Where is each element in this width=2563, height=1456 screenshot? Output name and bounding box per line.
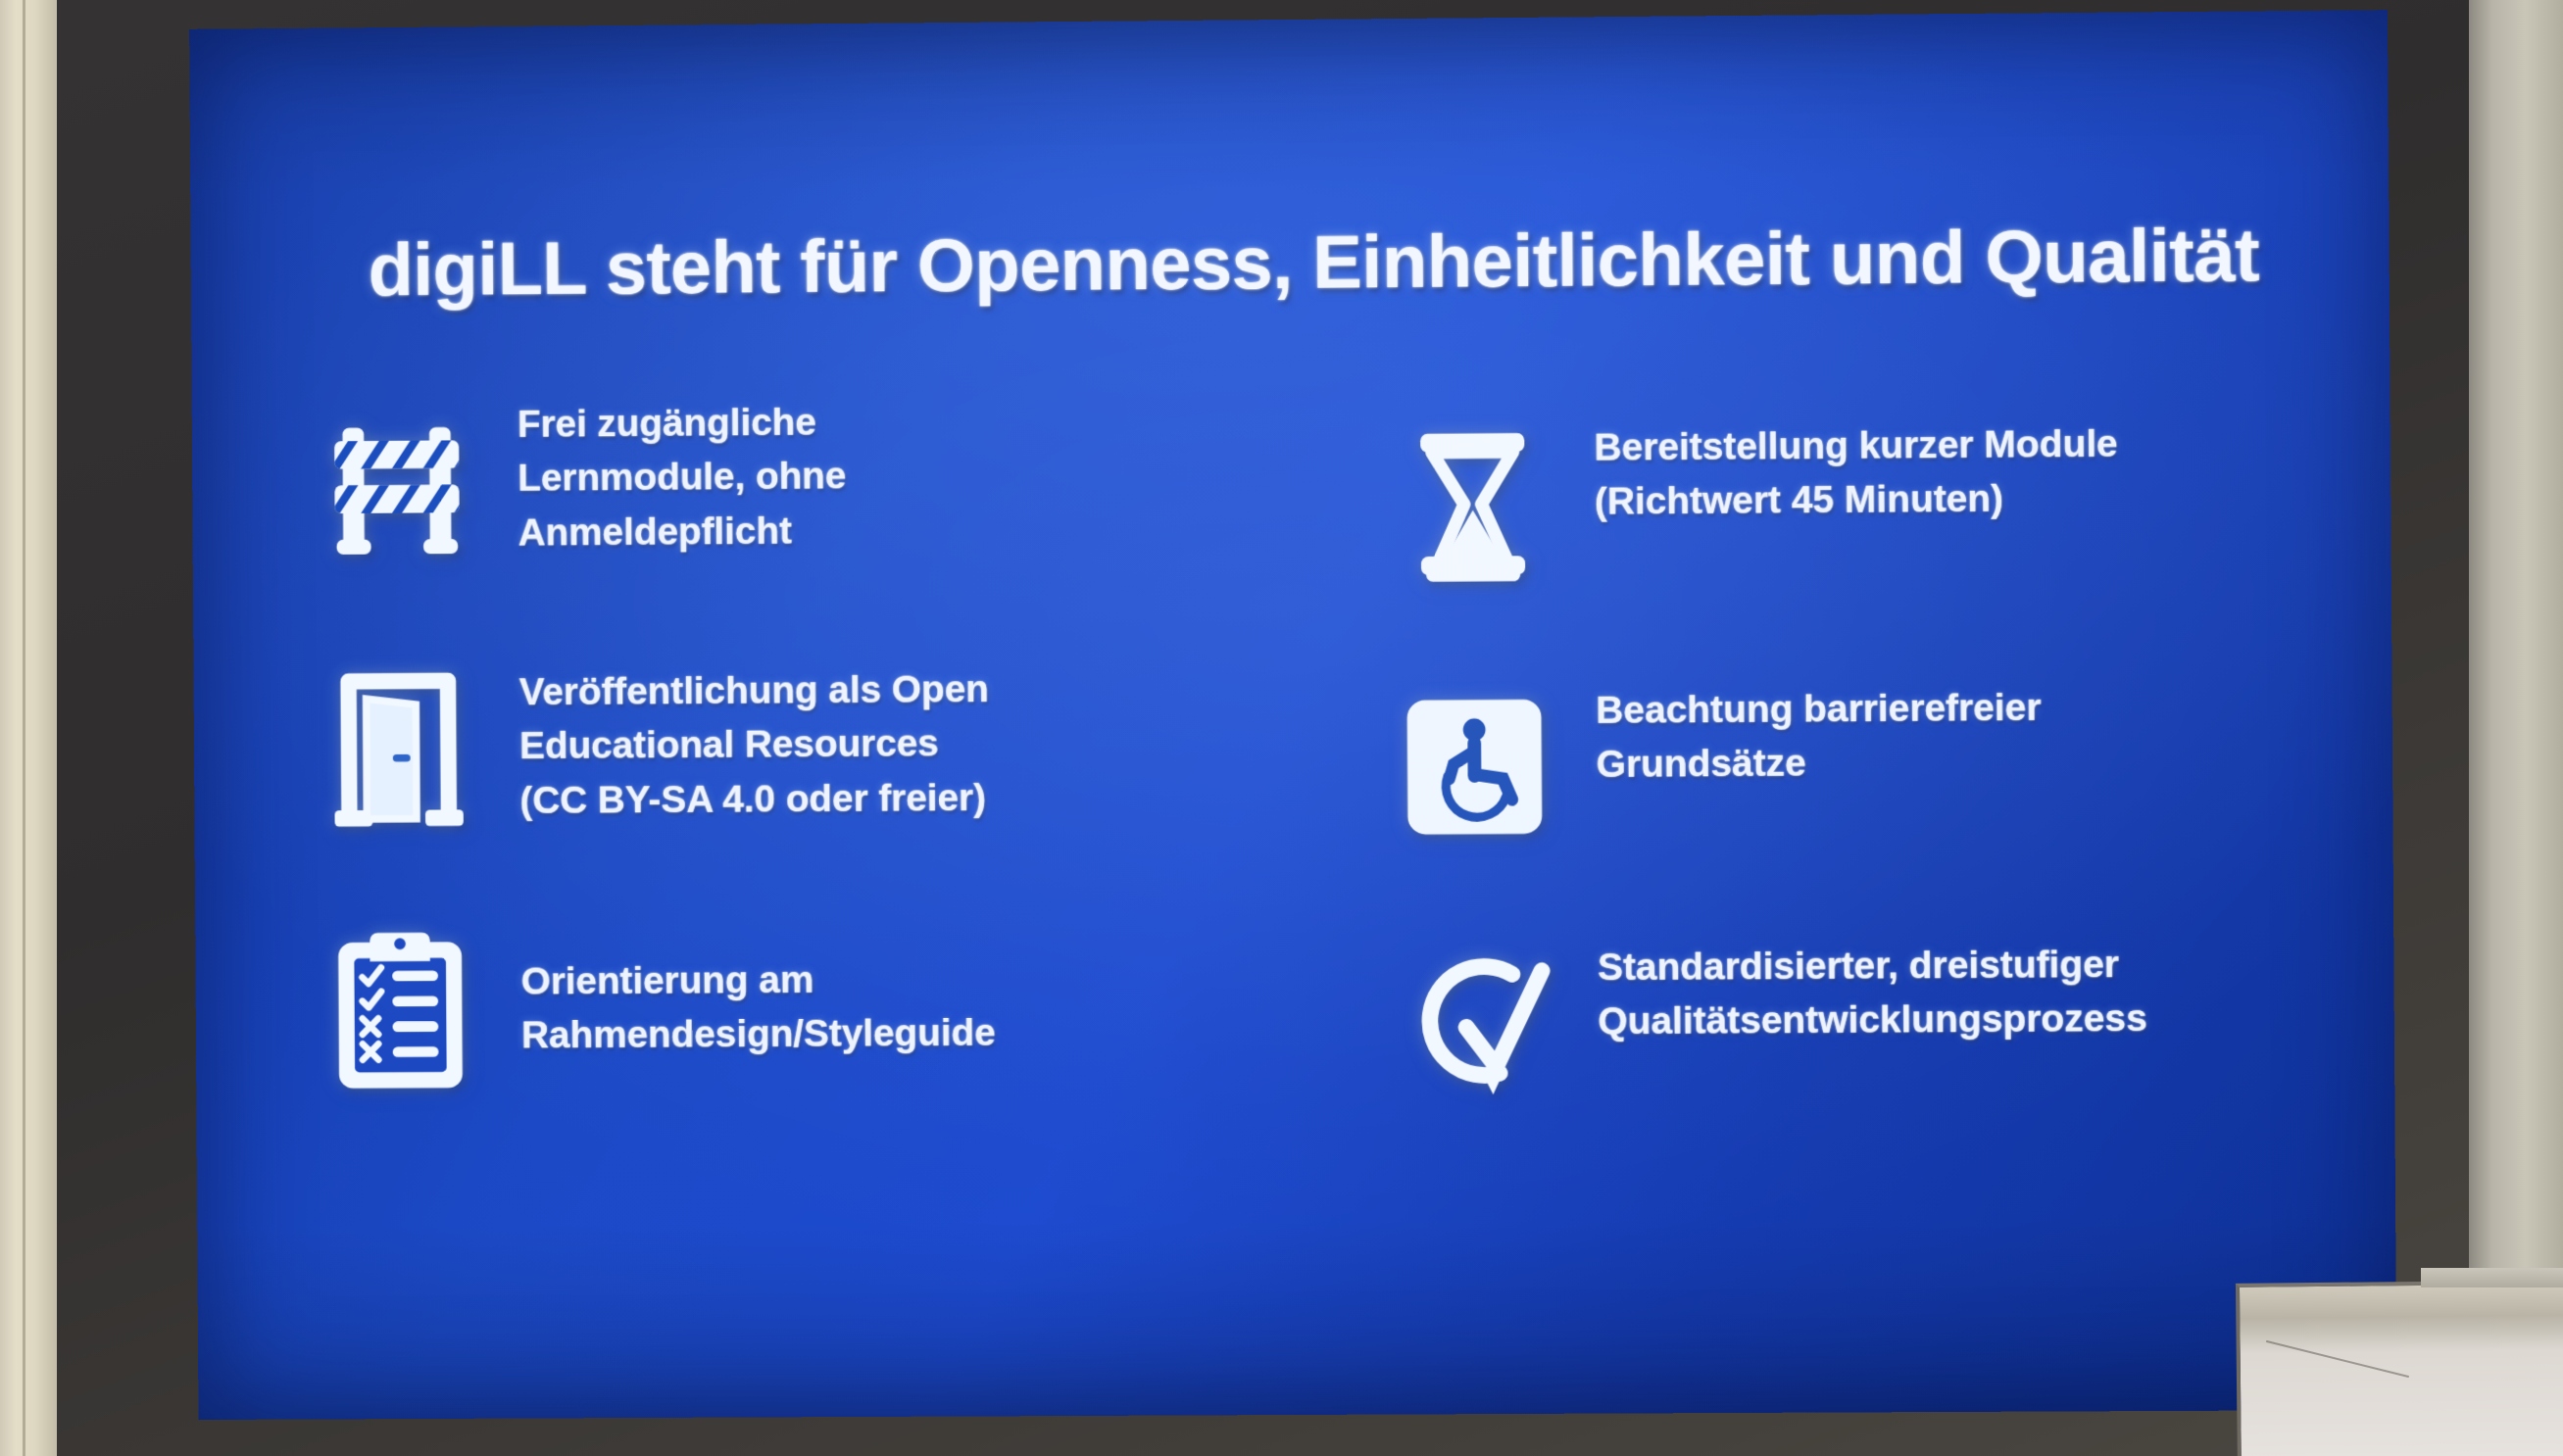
photographed-room-scene: digiLL steht für Openness, Einheitlichke… [0, 0, 2563, 1456]
projection-screen-bezel: digiLL steht für Openness, Einheitlichke… [57, 0, 2469, 1456]
text-line: Rahmendesign/Styleguide [521, 1006, 996, 1063]
text-line: Anmeldepflicht [518, 504, 847, 560]
slide-number: 6 [2331, 1297, 2345, 1328]
list-item: Orientierung am Rahmendesign/Styleguide [312, 917, 1291, 1185]
list-item-label: Orientierung am Rahmendesign/Styleguide [520, 919, 996, 1063]
text-line: Bereitstellung kurzer Module [1594, 417, 2118, 475]
presentation-slide: digiLL steht für Openness, Einheitlichke… [189, 10, 2396, 1420]
list-item: Beachtung barrierefreier Grundsätze [1317, 648, 2302, 917]
text-line: (CC BY-SA 4.0 oder freier) [519, 771, 990, 828]
page-title: digiLL steht für Openness, Einheitlichke… [368, 216, 2290, 312]
feature-grid: Frei zugängliche Lernmodule, ohne Anmeld… [309, 384, 2303, 1185]
list-item-label: Beachtung barrierefreier Grundsätze [1596, 675, 2042, 793]
clipboard-checklist-icon [312, 922, 488, 1099]
checkmark-cycle-icon [1388, 935, 1565, 1112]
text-line: Standardisierter, dreistufiger [1598, 938, 2147, 995]
right-wall [2469, 0, 2563, 1456]
left-wall [0, 0, 57, 1456]
text-line: Beachtung barrierefreier [1596, 681, 2042, 738]
road-barrier-icon [309, 398, 485, 575]
list-item-label: Veröffentlichung als Open Educational Re… [518, 656, 989, 828]
text-line: Educational Resources [519, 716, 990, 773]
text-line: Orientierung am [520, 952, 995, 1009]
list-item-label: Standardisierter, dreistufiger Qualitäts… [1598, 932, 2147, 1049]
text-line: Frei zugängliche [518, 395, 847, 452]
wheelchair-accessibility-icon [1386, 678, 1563, 855]
list-item: Standardisierter, dreistufiger Qualitäts… [1318, 911, 2303, 1180]
text-line: Grundsätze [1596, 735, 2042, 792]
text-line: (Richtwert 45 Minuten) [1595, 471, 2119, 529]
text-line: Qualitätsentwicklungsprozess [1598, 992, 2147, 1049]
list-item-label: Frei zugängliche Lernmodule, ohne Anmeld… [518, 395, 847, 559]
open-door-icon [311, 660, 487, 838]
list-item: Frei zugängliche Lernmodule, ohne Anmeld… [309, 392, 1288, 661]
list-item-label: Bereitstellung kurzer Module (Richtwert … [1594, 412, 2118, 530]
text-line: Veröffentlichung als Open [519, 662, 990, 720]
list-item: Veröffentlichung als Open Educational Re… [311, 655, 1290, 923]
list-item: Bereitstellung kurzer Module (Richtwert … [1315, 384, 2300, 655]
text-line: Lernmodule, ohne [518, 450, 847, 507]
hourglass-icon [1384, 415, 1561, 593]
